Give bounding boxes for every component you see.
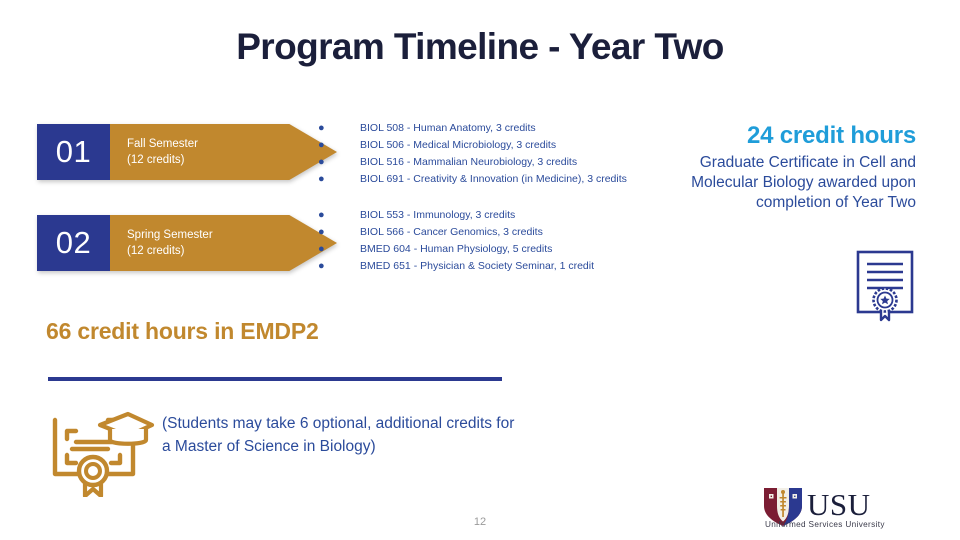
semester-banner-01: 01 Fall Semester (12 credits)	[37, 124, 337, 180]
list-item: ● BIOL 566 - Cancer Genomics, 3 credits	[318, 224, 594, 241]
credit-hours-block: 24 credit hours Graduate Certificate in …	[686, 121, 916, 213]
divider	[48, 377, 502, 381]
optional-credits-note: (Students may take 6 optional, additiona…	[162, 412, 522, 458]
list-item: ● BIOL 516 - Mammalian Neurobiology, 3 c…	[318, 154, 627, 171]
emdp2-headline: 66 credit hours in EMDP2	[46, 318, 319, 345]
bullet-icon: ●	[318, 154, 360, 171]
course-list-spring: ● BIOL 553 - Immunology, 3 credits ● BIO…	[318, 207, 594, 275]
list-item: ● BIOL 506 - Medical Microbiology, 3 cre…	[318, 137, 627, 154]
course-label: BIOL 508 - Human Anatomy, 3 credits	[360, 120, 536, 137]
slide-canvas: Program Timeline - Year Two 01 Fall Seme…	[0, 0, 960, 540]
course-list-fall: ● BIOL 508 - Human Anatomy, 3 credits ● …	[318, 120, 627, 188]
list-item: ● BIOL 508 - Human Anatomy, 3 credits	[318, 120, 627, 137]
course-label: BIOL 566 - Cancer Genomics, 3 credits	[360, 224, 543, 241]
course-label: BMED 604 - Human Physiology, 5 credits	[360, 241, 552, 258]
usu-wordmark: USU	[807, 487, 871, 522]
course-label: BMED 651 - Physician & Society Seminar, …	[360, 258, 594, 275]
page-title: Program Timeline - Year Two	[0, 26, 960, 68]
usu-logo: USU Uniformed Services University	[762, 486, 898, 530]
credit-hours-headline: 24 credit hours	[686, 121, 916, 151]
bullet-icon: ●	[318, 258, 360, 275]
bullet-icon: ●	[318, 224, 360, 241]
course-label: BIOL 691 - Creativity & Innovation (in M…	[360, 171, 627, 188]
semester-number-01: 01	[37, 124, 110, 180]
bullet-icon: ●	[318, 120, 360, 137]
credit-hours-description: Graduate Certificate in Cell and Molecul…	[686, 153, 916, 213]
semester-credits-02: (12 credits)	[127, 243, 337, 259]
list-item: ● BMED 651 - Physician & Society Seminar…	[318, 258, 594, 275]
semester-name-01: Fall Semester	[127, 136, 337, 152]
list-item: ● BMED 604 - Human Physiology, 5 credits	[318, 241, 594, 258]
semester-number-02: 02	[37, 215, 110, 271]
course-label: BIOL 553 - Immunology, 3 credits	[360, 207, 515, 224]
semester-label-01: Fall Semester (12 credits)	[110, 124, 337, 180]
bullet-icon: ●	[318, 137, 360, 154]
list-item: ● BIOL 553 - Immunology, 3 credits	[318, 207, 594, 224]
usu-tagline: Uniformed Services University	[765, 520, 885, 529]
bullet-icon: ●	[318, 207, 360, 224]
bullet-icon: ●	[318, 241, 360, 258]
semester-banner-02: 02 Spring Semester (12 credits)	[37, 215, 337, 271]
diploma-graduation-cap-icon	[48, 401, 158, 497]
course-label: BIOL 516 - Mammalian Neurobiology, 3 cre…	[360, 154, 577, 171]
semester-label-02: Spring Semester (12 credits)	[110, 215, 337, 271]
bullet-icon: ●	[318, 171, 360, 188]
course-label: BIOL 506 - Medical Microbiology, 3 credi…	[360, 137, 556, 154]
semester-name-02: Spring Semester	[127, 227, 337, 243]
certificate-icon	[851, 250, 919, 322]
list-item: ● BIOL 691 - Creativity & Innovation (in…	[318, 171, 627, 188]
semester-credits-01: (12 credits)	[127, 152, 337, 168]
